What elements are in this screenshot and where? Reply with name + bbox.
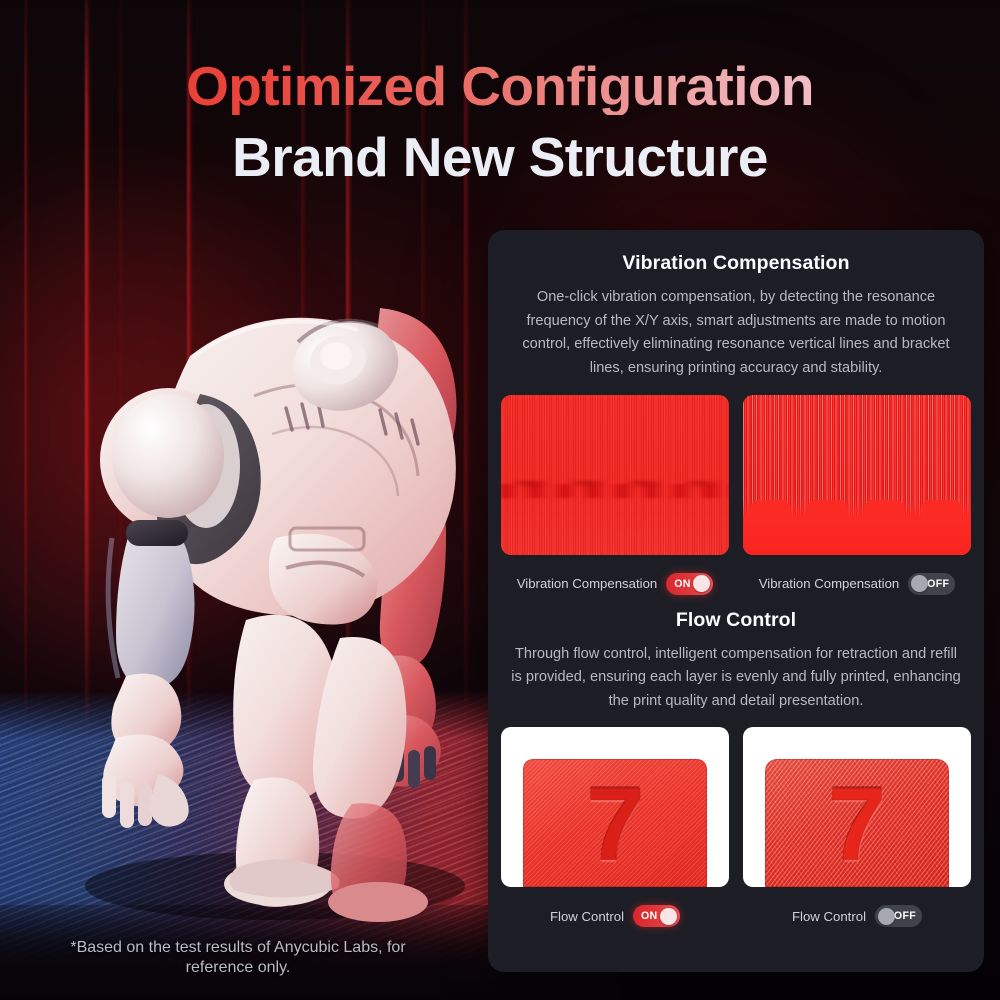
toggle-knob-icon [911,575,928,592]
vibration-sample-on-arcline [501,484,729,498]
section-title-vibration: Vibration Compensation [488,252,984,275]
flow-toggle-on-label: Flow Control [550,909,624,924]
disclaimer-footnote: *Based on the test results of Anycubic L… [38,938,438,978]
toggle-knob-icon [878,908,895,925]
vibration-toggle-off-cell: Vibration Compensation OFF [743,573,971,595]
section-flow-control: Flow Control Through flow control, intel… [488,609,984,928]
page-title-secondary: Brand New Structure [0,129,1000,186]
flow-toggle-on-state: ON [641,910,658,922]
feature-panel: Vibration Compensation One-click vibrati… [488,230,984,972]
flow-sample-off: 7 [743,727,971,887]
flow-toggle-off-state: OFF [894,910,916,922]
robot-illustration [40,238,510,928]
scene-background: Optimized Configuration Brand New Struct… [0,0,1000,1000]
flow-toggle-row: Flow Control ON Flow Control OFF [488,905,984,927]
flow-toggle-on-cell: Flow Control ON [501,905,729,927]
vibration-toggle-on-label: Vibration Compensation [517,576,658,591]
vibration-toggle-row: Vibration Compensation ON Vibration Comp… [488,573,984,595]
flow-sample-on-plate: 7 [523,759,707,887]
hero-heading-group: Optimized Configuration Brand New Struct… [0,58,1000,186]
flow-toggle-off-cell: Flow Control OFF [743,905,971,927]
vibration-toggle-on[interactable]: ON [666,573,713,595]
section-body-vibration: One-click vibration compensation, by det… [488,275,984,381]
vibration-toggle-on-cell: Vibration Compensation ON [501,573,729,595]
flow-comparison-images: 7 7 [488,727,984,887]
vibration-comparison-images [488,395,984,555]
section-title-flow-control: Flow Control [488,609,984,632]
vibration-sample-on [501,395,729,555]
vibration-toggle-off[interactable]: OFF [908,573,955,595]
section-body-flow-control: Through flow control, intelligent compen… [488,632,984,714]
vibration-sample-off-band [743,500,971,554]
vibration-toggle-off-state: OFF [927,578,949,590]
flow-toggle-off-label: Flow Control [792,909,866,924]
toggle-knob-icon [693,575,710,592]
flow-sample-off-digit: 7 [828,774,886,878]
section-vibration-compensation: Vibration Compensation One-click vibrati… [488,252,984,595]
vibration-sample-off [743,395,971,555]
flow-toggle-on[interactable]: ON [633,905,680,927]
vibration-toggle-off-label: Vibration Compensation [759,576,900,591]
flow-sample-off-plate: 7 [765,759,949,887]
flow-toggle-off[interactable]: OFF [875,905,922,927]
flow-sample-on-digit: 7 [586,774,644,878]
page-title-primary: Optimized Configuration [0,58,1000,115]
flow-sample-on: 7 [501,727,729,887]
vibration-toggle-on-state: ON [674,578,691,590]
toggle-knob-icon [660,908,677,925]
